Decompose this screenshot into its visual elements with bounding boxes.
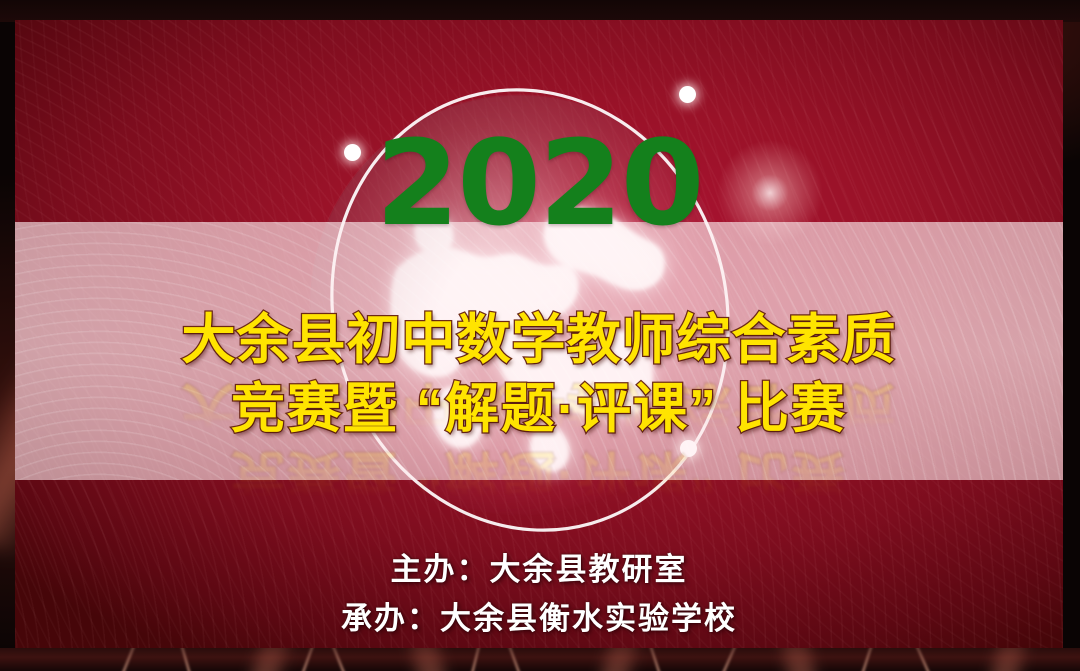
title-line-1: 大余县初中数学教师综合素质 [15, 306, 1063, 375]
bottom-light-streaks [0, 648, 1080, 671]
year-heading: 2020 [15, 124, 1063, 242]
organizer-line: 主办：大余县教研室 [15, 544, 1063, 589]
top-dark-border [0, 0, 1080, 22]
title-line-2: 竞赛暨 “解题·评课” 比赛 [15, 375, 1063, 444]
host-line: 承办：大余县衡水实验学校 [15, 593, 1063, 638]
main-title: 大余县初中数学教师综合素质 竞赛暨 “解题·评课” 比赛 [15, 306, 1063, 444]
orbit-node-topright [679, 86, 696, 103]
presentation-slide: 2020 大余县初中数学教师综合素质 竞赛暨 “解题·评课” 比赛 大余县初中数… [0, 0, 1080, 671]
slide-canvas: 2020 大余县初中数学教师综合素质 竞赛暨 “解题·评课” 比赛 大余县初中数… [15, 20, 1063, 648]
